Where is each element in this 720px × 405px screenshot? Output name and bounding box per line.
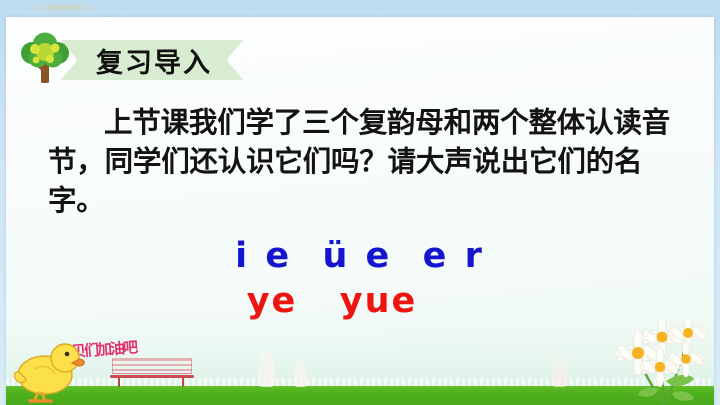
background-figure-adult [258, 352, 275, 387]
bench-leg-left [118, 378, 120, 387]
bench-back [112, 358, 192, 374]
bench-leg-right [182, 378, 184, 387]
top-smudge-decoration [26, 3, 100, 12]
pinyin-row-compound-finals: i e ü e e r [6, 236, 714, 276]
bottom-decoration-scene: 宝贝们加油吧 [6, 317, 714, 405]
bench-seat [110, 375, 194, 378]
background-figure-child [294, 360, 307, 387]
scene-haze [6, 316, 714, 390]
pinyin-row-whole-syllables: ye yue [6, 281, 714, 321]
decorative-logo-text: 宝贝们加油吧 [57, 336, 136, 362]
slide-canvas: 复习导入 上节课我们学了三个复韵母和两个整体认读音节，同学们还认识它们吗？请大声… [0, 0, 720, 405]
background-figure-right [552, 356, 567, 387]
page-title: 复习导入 [61, 40, 243, 80]
section-banner: 复习导入 [61, 40, 243, 80]
duck-illustration [12, 337, 86, 403]
fence-illustration [6, 378, 714, 387]
grass-band [6, 386, 714, 405]
daisy-flowers-illustration [600, 319, 712, 405]
bench-illustration [110, 358, 194, 386]
slide-content-card: 复习导入 上节课我们学了三个复韵母和两个整体认读音节，同学们还认识它们吗？请大声… [6, 17, 714, 405]
instruction-paragraph: 上节课我们学了三个复韵母和两个整体认读音节，同学们还认识它们吗？请大声说出它们的… [48, 103, 688, 220]
